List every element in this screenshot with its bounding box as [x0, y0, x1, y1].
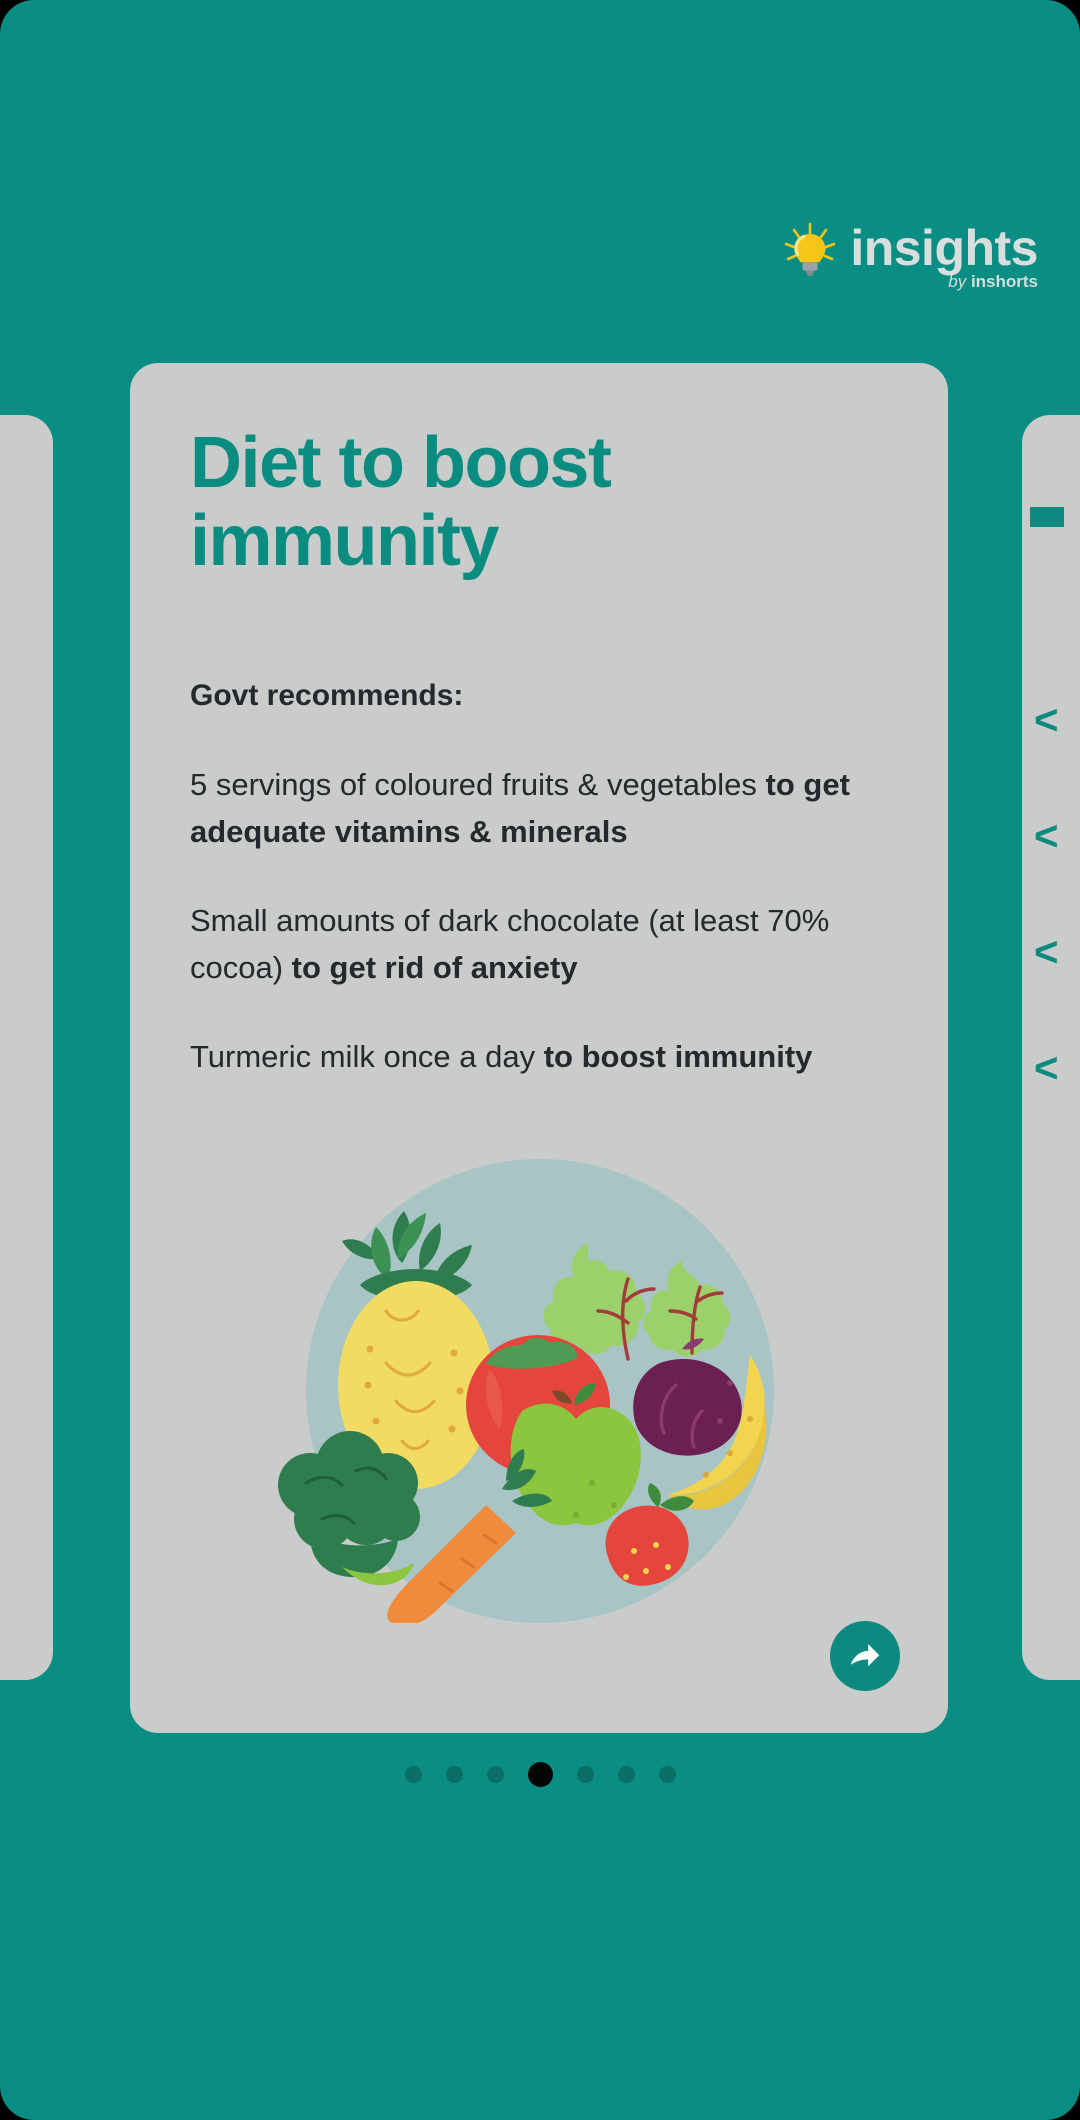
- card-lead-text: Govt recommends:: [190, 673, 890, 719]
- chevron-left-icon: <: [1034, 937, 1059, 967]
- pagination-dot[interactable]: [446, 1766, 463, 1783]
- logo-wordmark: insights: [850, 222, 1038, 274]
- pagination-dots: [0, 1762, 1080, 1787]
- chevron-left-icon: <: [1034, 705, 1059, 735]
- recommendation-item: 5 servings of coloured fruits & vegetabl…: [190, 761, 890, 855]
- pagination-dot[interactable]: [577, 1766, 594, 1783]
- insight-card[interactable]: Diet to boost immunity Govt recommends: …: [130, 363, 948, 1733]
- recommendation-text: 5 servings of coloured fruits & vegetabl…: [190, 767, 766, 802]
- recommendation-item: Small amounts of dark chocolate (at leas…: [190, 897, 890, 991]
- share-button[interactable]: [830, 1621, 900, 1691]
- chevron-left-icon: <: [1034, 821, 1059, 851]
- next-card-chevrons: < < < <: [1034, 705, 1059, 1083]
- pagination-dot-active[interactable]: [528, 1762, 553, 1787]
- previous-card-peek[interactable]: [0, 415, 53, 1680]
- chevron-left-icon: <: [1034, 1053, 1059, 1083]
- next-card-peek[interactable]: < < < <: [1022, 415, 1080, 1680]
- share-arrow-icon: [846, 1637, 884, 1675]
- recommendation-emphasis: to get rid of anxiety: [292, 950, 578, 985]
- next-card-accent-dash: [1030, 507, 1064, 527]
- recommendation-text: Turmeric milk once a day: [190, 1039, 544, 1074]
- card-body: Govt recommends: 5 servings of coloured …: [190, 673, 890, 1080]
- card-title: Diet to boost immunity: [190, 425, 890, 581]
- pagination-dot[interactable]: [659, 1766, 676, 1783]
- pagination-dot[interactable]: [618, 1766, 635, 1783]
- lightbulb-icon: [782, 222, 838, 282]
- fruits-and-vegetables-illustration: [190, 1153, 890, 1623]
- pagination-dot[interactable]: [405, 1766, 422, 1783]
- app-screen: insights by inshorts < < < < Diet to boo…: [0, 0, 1080, 2120]
- logo-sub-brand: inshorts: [971, 272, 1038, 291]
- logo-subtitle: by inshorts: [948, 272, 1038, 292]
- insights-logo: insights by inshorts: [782, 222, 1038, 292]
- pagination-dot[interactable]: [487, 1766, 504, 1783]
- recommendation-item: Turmeric milk once a day to boost immuni…: [190, 1033, 890, 1080]
- logo-sub-prefix: by: [948, 272, 966, 291]
- recommendation-emphasis: to boost immunity: [544, 1039, 813, 1074]
